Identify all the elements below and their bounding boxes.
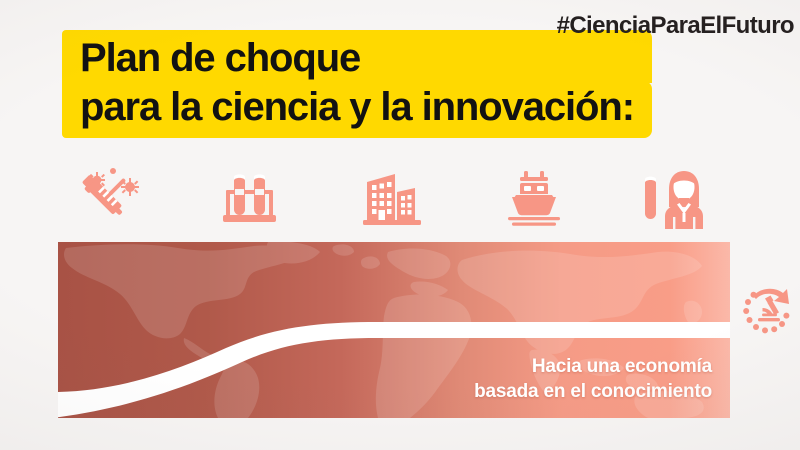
hashtag-label: #CienciaParaElFuturo	[557, 12, 794, 40]
ship-icon	[502, 169, 566, 227]
tagline: Hacia una economía basada en el conocimi…	[474, 354, 712, 404]
title-banner: Plan de choque para la ciencia y la inno…	[62, 30, 652, 138]
microscope-circle-icon	[738, 282, 796, 340]
world-map-panel: Hacia una economía basada en el conocimi…	[58, 242, 730, 418]
icon-cell-companies	[346, 160, 438, 236]
test-tubes-rack-icon	[221, 168, 279, 228]
icon-cell-laboratory	[204, 160, 296, 236]
office-buildings-icon	[361, 168, 423, 228]
syringe-vaccine-icon	[75, 167, 141, 229]
icon-cell-researcher	[630, 160, 722, 236]
icon-row	[62, 158, 722, 238]
tagline-line-2: basada en el conocimiento	[474, 379, 712, 404]
icon-cell-shipping	[488, 160, 580, 236]
tagline-line-1: Hacia una economía	[474, 354, 712, 379]
icon-cell-vaccines	[62, 160, 154, 236]
female-scientist-icon	[639, 167, 713, 229]
poster-canvas: #CienciaParaElFuturo Plan de choque para…	[0, 0, 800, 450]
title-line-2: para la ciencia y la innovación:	[62, 81, 652, 138]
